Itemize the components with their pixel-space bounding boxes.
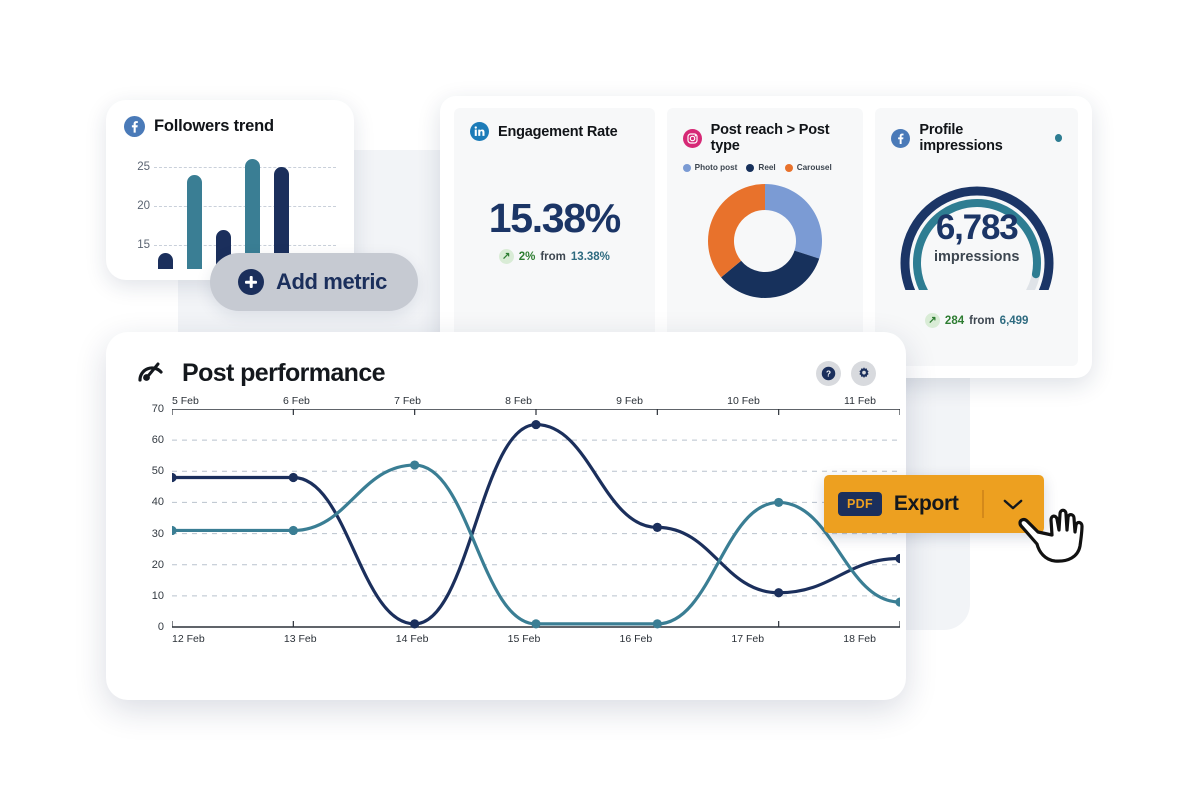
followers-bars bbox=[158, 151, 332, 269]
engagement-rate-title: Engagement Rate bbox=[498, 124, 617, 140]
line-chart-x-tick: 13 Feb bbox=[284, 633, 317, 645]
line-chart-x-tick: 7 Feb bbox=[394, 395, 421, 407]
facebook-icon bbox=[891, 129, 910, 148]
impressions-delta-from: from bbox=[969, 315, 995, 327]
line-chart-x-tick: 12 Feb bbox=[172, 633, 205, 645]
engagement-delta-prev: 13.38% bbox=[571, 251, 610, 263]
add-metric-label: Add metric bbox=[276, 269, 387, 295]
instagram-icon bbox=[683, 129, 702, 148]
impressions-delta-pct: 284 bbox=[945, 315, 964, 327]
legend-swatch bbox=[785, 164, 793, 172]
profile-impressions-value: 6,783 bbox=[891, 208, 1062, 248]
followers-y-tick: 25 bbox=[137, 161, 150, 173]
dashboard-stage: Followers trend 252015 Add metric bbox=[0, 0, 1200, 800]
line-chart-point bbox=[653, 619, 662, 628]
line-chart-x-axis-top: 5 Feb6 Feb7 Feb8 Feb9 Feb10 Feb11 Feb bbox=[172, 395, 876, 407]
line-chart-x-tick: 16 Feb bbox=[620, 633, 653, 645]
legend-label: Carousel bbox=[797, 163, 832, 172]
svg-text:?: ? bbox=[826, 370, 831, 379]
line-chart-plot bbox=[172, 409, 876, 627]
donut-segment bbox=[765, 184, 822, 259]
line-chart-point bbox=[895, 554, 900, 563]
legend-item: Carousel bbox=[785, 163, 832, 172]
line-chart-x-tick: 8 Feb bbox=[505, 395, 532, 407]
profile-impressions-gauge: 6,783 impressions bbox=[891, 158, 1062, 295]
line-chart-x-tick: 6 Feb bbox=[283, 395, 310, 407]
pdf-badge: PDF bbox=[838, 492, 882, 516]
speedometer-icon bbox=[136, 358, 166, 389]
line-chart-y-tick: 20 bbox=[152, 559, 164, 571]
post-performance-actions: ? bbox=[816, 361, 876, 386]
engagement-delta-pct: 2% bbox=[519, 251, 536, 263]
line-chart-x-tick: 9 Feb bbox=[616, 395, 643, 407]
profile-impressions-card: Profile impressions 6,783 impressions ↗ … bbox=[875, 108, 1078, 366]
engagement-delta-from: from bbox=[540, 251, 566, 263]
line-chart-point bbox=[774, 498, 783, 507]
followers-bar bbox=[187, 175, 202, 269]
legend-swatch bbox=[683, 164, 691, 172]
line-chart-point bbox=[653, 523, 662, 532]
followers-trend-chart: 252015 bbox=[124, 151, 336, 269]
line-chart-series bbox=[172, 425, 900, 624]
post-performance-chart: 010203040506070 5 Feb6 Feb7 Feb8 Feb9 Fe… bbox=[136, 409, 876, 665]
help-button[interactable]: ? bbox=[816, 361, 841, 386]
export-label: Export bbox=[894, 492, 959, 516]
linkedin-icon bbox=[470, 122, 489, 141]
line-chart-point bbox=[531, 420, 540, 429]
post-reach-donut bbox=[683, 178, 848, 304]
line-chart-y-axis: 010203040506070 bbox=[136, 409, 164, 627]
line-chart-x-tick: 17 Feb bbox=[731, 633, 764, 645]
line-chart-point bbox=[895, 597, 900, 606]
line-chart-point bbox=[172, 473, 177, 482]
donut-segment bbox=[708, 184, 765, 277]
post-reach-card: Post reach > Post type Photo postReelCar… bbox=[667, 108, 864, 366]
legend-label: Reel bbox=[758, 163, 775, 172]
post-reach-legend: Photo postReelCarousel bbox=[683, 163, 848, 172]
legend-label: Photo post bbox=[695, 163, 738, 172]
engagement-rate-value: 15.38% bbox=[470, 195, 639, 242]
post-performance-title-group: Post performance bbox=[136, 358, 385, 389]
post-performance-title: Post performance bbox=[182, 359, 385, 388]
line-chart-x-tick: 11 Feb bbox=[844, 395, 876, 407]
status-dot bbox=[1055, 134, 1062, 142]
legend-item: Photo post bbox=[683, 163, 738, 172]
line-chart-point bbox=[289, 526, 298, 535]
profile-impressions-delta: ↗ 284 from 6,499 bbox=[891, 313, 1062, 328]
line-chart-y-tick: 70 bbox=[152, 403, 164, 415]
line-chart-y-tick: 30 bbox=[152, 528, 164, 540]
line-chart-y-tick: 0 bbox=[158, 621, 164, 633]
add-metric-button[interactable]: Add metric bbox=[210, 253, 418, 311]
line-chart-x-tick: 5 Feb bbox=[172, 395, 199, 407]
settings-button[interactable] bbox=[851, 361, 876, 386]
plus-circle-icon bbox=[238, 269, 264, 295]
engagement-rate-card: Engagement Rate 15.38% ↗ 2% from 13.38% bbox=[454, 108, 655, 366]
line-chart-x-tick: 14 Feb bbox=[396, 633, 429, 645]
line-chart-y-tick: 60 bbox=[152, 434, 164, 446]
engagement-rate-header: Engagement Rate bbox=[470, 122, 639, 141]
followers-y-tick: 15 bbox=[137, 239, 150, 251]
line-chart-y-tick: 40 bbox=[152, 496, 164, 508]
profile-impressions-title: Profile impressions bbox=[919, 122, 1041, 154]
post-performance-panel: Post performance ? 010203040506 bbox=[106, 332, 906, 700]
profile-impressions-unit: impressions bbox=[891, 249, 1062, 265]
followers-trend-header: Followers trend bbox=[124, 116, 336, 137]
line-chart-point bbox=[410, 619, 419, 628]
trend-up-arrow-icon: ↗ bbox=[499, 249, 514, 264]
followers-y-tick: 20 bbox=[137, 200, 150, 212]
export-button[interactable]: PDF Export bbox=[824, 475, 1044, 533]
legend-swatch bbox=[746, 164, 754, 172]
line-chart-x-tick: 10 Feb bbox=[727, 395, 760, 407]
gauge-center-label: 6,783 impressions bbox=[891, 208, 1062, 265]
line-chart-x-axis-bottom: 12 Feb13 Feb14 Feb15 Feb16 Feb17 Feb18 F… bbox=[172, 633, 876, 645]
engagement-rate-delta: ↗ 2% from 13.38% bbox=[470, 249, 639, 264]
followers-trend-title: Followers trend bbox=[154, 117, 274, 136]
pointing-hand-cursor bbox=[1018, 504, 1092, 577]
facebook-icon bbox=[124, 116, 145, 137]
followers-bar bbox=[158, 253, 173, 269]
line-chart-y-tick: 50 bbox=[152, 465, 164, 477]
line-chart-x-tick: 18 Feb bbox=[843, 633, 876, 645]
line-chart-point bbox=[531, 619, 540, 628]
export-divider bbox=[982, 490, 984, 518]
post-performance-header: Post performance ? bbox=[136, 358, 876, 389]
line-chart-point bbox=[774, 588, 783, 597]
trend-up-arrow-icon: ↗ bbox=[925, 313, 940, 328]
profile-impressions-header: Profile impressions bbox=[891, 122, 1062, 154]
line-chart-point bbox=[410, 460, 419, 469]
line-chart-point bbox=[289, 473, 298, 482]
post-reach-title: Post reach > Post type bbox=[711, 122, 848, 154]
legend-item: Reel bbox=[746, 163, 775, 172]
impressions-delta-prev: 6,499 bbox=[1000, 315, 1029, 327]
line-chart-x-tick: 15 Feb bbox=[508, 633, 541, 645]
post-reach-header: Post reach > Post type bbox=[683, 122, 848, 154]
followers-y-axis: 252015 bbox=[124, 151, 150, 269]
line-chart-series bbox=[172, 465, 900, 624]
line-chart-y-tick: 10 bbox=[152, 590, 164, 602]
